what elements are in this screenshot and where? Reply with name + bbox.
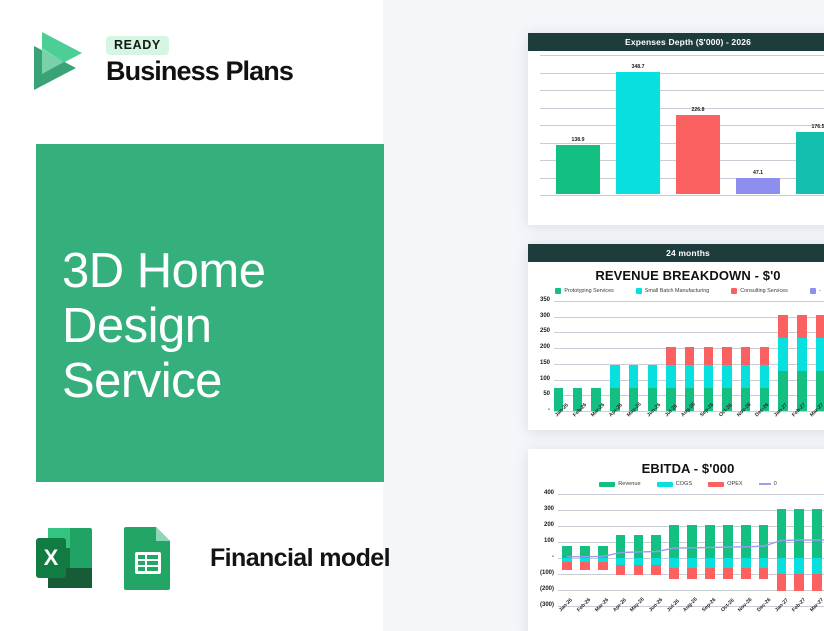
bar-segment xyxy=(704,347,713,366)
legend-item: Consulting Services xyxy=(731,288,788,294)
x-axis: Jan-26Feb-26Mar-26Apr-26May-26Jun-26Jul-… xyxy=(554,414,824,420)
legend-swatch xyxy=(731,288,737,294)
bar-column: 138.9 xyxy=(556,55,600,194)
bar-value-label: 47.1 xyxy=(736,170,780,176)
bar-value-label: 176.5 xyxy=(796,124,824,130)
stacked-bar-column xyxy=(816,301,824,411)
legend-item: Small Batch Manufacturing xyxy=(636,288,709,294)
legend-label: Small Batch Manufacturing xyxy=(645,288,709,294)
play-triangle-logo-icon xyxy=(30,28,92,94)
stacked-bar-column xyxy=(722,301,731,411)
bar-value-label: 138.9 xyxy=(556,137,600,143)
bar-column: 176.5 xyxy=(796,55,824,194)
legend-item: COGS xyxy=(657,481,692,487)
legend-label: Prototyping Services xyxy=(564,288,613,294)
y-axis-tick: (200) xyxy=(528,586,554,592)
bar-column: 226.8 xyxy=(676,55,720,194)
legend-swatch xyxy=(657,482,673,487)
y-axis-tick: (300) xyxy=(528,602,554,608)
chart-card-ebitda: EBITDA - $'000 RevenueCOGSOPEX0 40030020… xyxy=(528,449,824,631)
footer-label: Financial model xyxy=(210,544,390,573)
bar-segment xyxy=(760,365,769,387)
stacked-bar-column xyxy=(554,301,563,411)
stacked-bar-column xyxy=(591,301,600,411)
slide-canvas: READY Business Plans 3D Home Design Serv… xyxy=(0,0,824,631)
chart-card-expenses: Expenses Depth ($'000) - 2026 138.9348.7… xyxy=(528,33,824,225)
revenue-bars xyxy=(554,301,824,411)
bar-segment xyxy=(629,365,638,387)
y-axis-tick: 100 xyxy=(528,376,550,382)
revenue-chart-title: REVENUE BREAKDOWN - $'0 xyxy=(528,262,824,286)
y-axis-tick: 350 xyxy=(528,297,550,303)
y-axis-tick: - xyxy=(528,407,550,413)
legend-swatch xyxy=(555,288,561,294)
footer-file-formats: X Financial model xyxy=(32,522,390,594)
legend-label: COGS xyxy=(676,481,692,487)
stacked-bar-column xyxy=(704,301,713,411)
bar-value-label: 348.7 xyxy=(616,64,660,70)
legend-label: 0 xyxy=(774,481,777,487)
ebitda-chart-legend: RevenueCOGSOPEX0 xyxy=(528,479,824,490)
zero-trend-line xyxy=(558,490,824,606)
legend-label: Consulting Services xyxy=(740,288,788,294)
bar-column: 348.7 xyxy=(616,55,660,194)
stacked-bar-column xyxy=(610,301,619,411)
bar-segment xyxy=(722,347,731,366)
expenses-bars: 138.9348.7226.847.1176.5 xyxy=(556,55,824,194)
ebitda-chart-plot: 400300200100-(100)(200)(300)Jan-26Feb-26… xyxy=(528,490,824,631)
brand-logo: READY Business Plans xyxy=(30,28,293,94)
y-axis-tick: 200 xyxy=(528,344,550,350)
ebitda-bars xyxy=(558,490,824,606)
bar-segment xyxy=(648,365,657,387)
bar-segment xyxy=(722,365,731,387)
bar xyxy=(736,178,780,194)
stacked-bar-column xyxy=(666,301,675,411)
bar-column: 47.1 xyxy=(736,55,780,194)
brand-wordmark: READY Business Plans xyxy=(106,36,293,85)
y-axis-tick: 250 xyxy=(528,328,550,334)
bar-segment xyxy=(741,347,750,366)
revenue-chart-plot: 35030025020015010050-Jan-26Feb-26Mar-26A… xyxy=(528,297,824,425)
bar-segment xyxy=(778,338,787,371)
bar-segment xyxy=(610,365,619,387)
legend-item: - xyxy=(810,288,821,294)
legend-label: OPEX xyxy=(727,481,743,487)
stacked-bar-column xyxy=(797,301,806,411)
legend-item: Prototyping Services xyxy=(555,288,613,294)
brand-name: Business Plans xyxy=(106,57,293,85)
y-axis-tick: 150 xyxy=(528,360,550,366)
legend-swatch xyxy=(636,288,642,294)
bar-value-label: 226.8 xyxy=(676,107,720,113)
stacked-bar-column xyxy=(778,301,787,411)
stacked-bar-column xyxy=(685,301,694,411)
expenses-chart-plot: 138.9348.7226.847.1176.5 xyxy=(540,55,824,195)
revenue-chart-legend: Prototyping ServicesSmall Batch Manufact… xyxy=(528,286,824,297)
stacked-bar-column xyxy=(573,301,582,411)
bar-segment xyxy=(666,347,675,366)
x-axis: Jan-26Feb-26Mar-26Apr-26May-26Jun-26Jul-… xyxy=(558,609,824,615)
bar-segment xyxy=(797,315,806,338)
bar-segment xyxy=(741,365,750,387)
ready-badge: READY xyxy=(106,36,169,55)
bar-segment xyxy=(685,365,694,387)
legend-label: - xyxy=(819,288,821,294)
bar-segment xyxy=(704,365,713,387)
y-axis-tick: 100 xyxy=(528,538,554,544)
bar xyxy=(556,145,600,194)
bar-segment xyxy=(760,347,769,366)
bar-segment xyxy=(816,338,824,371)
legend-item: Revenue xyxy=(599,481,640,487)
bar-segment xyxy=(685,347,694,366)
bar xyxy=(616,72,660,194)
bar xyxy=(676,115,720,194)
legend-swatch xyxy=(759,483,771,485)
legend-swatch xyxy=(810,288,816,294)
y-axis-tick: 300 xyxy=(528,506,554,512)
chart-card-revenue-breakdown: 24 months REVENUE BREAKDOWN - $'0 Protot… xyxy=(528,244,824,430)
gridline xyxy=(540,195,824,196)
y-axis-tick: 400 xyxy=(528,490,554,496)
bar-segment xyxy=(816,315,824,338)
stacked-bar-column xyxy=(760,301,769,411)
legend-label: Revenue xyxy=(618,481,640,487)
y-axis-tick: 200 xyxy=(528,522,554,528)
hero-panel: 3D Home Design Service xyxy=(36,144,384,482)
bar-segment xyxy=(797,338,806,371)
revenue-chart-header: 24 months xyxy=(528,244,824,262)
y-axis-tick: 50 xyxy=(528,391,550,397)
expenses-chart-header: Expenses Depth ($'000) - 2026 xyxy=(528,33,824,51)
ebitda-chart-title: EBITDA - $'000 xyxy=(528,449,824,479)
legend-swatch xyxy=(708,482,724,487)
legend-item: OPEX xyxy=(708,481,743,487)
y-axis-tick: 300 xyxy=(528,313,550,319)
stacked-bar-column xyxy=(741,301,750,411)
bar-segment xyxy=(666,365,675,387)
y-axis-tick: (100) xyxy=(528,570,554,576)
y-axis-tick: - xyxy=(528,554,554,560)
svg-text:X: X xyxy=(44,545,59,570)
bar xyxy=(796,132,824,194)
legend-item: 0 xyxy=(759,481,777,487)
stacked-bar-column xyxy=(629,301,638,411)
legend-swatch xyxy=(599,482,615,487)
bar-segment xyxy=(778,315,787,338)
stacked-bar-column xyxy=(648,301,657,411)
excel-icon: X xyxy=(32,522,100,594)
page-title: 3D Home Design Service xyxy=(62,244,382,409)
google-sheets-icon xyxy=(114,522,182,594)
